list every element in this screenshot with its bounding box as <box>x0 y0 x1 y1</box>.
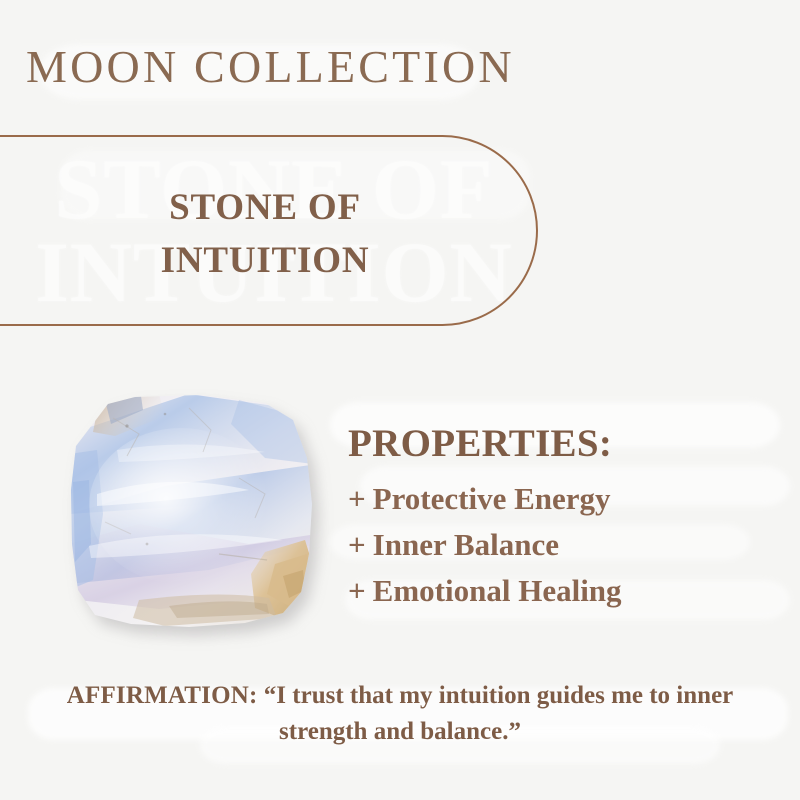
moonstone-image <box>69 394 317 632</box>
plus-icon: + <box>348 575 366 606</box>
affirmation-quote: “I trust that my intuition guides me to … <box>264 682 733 745</box>
banner-title: STONE OF INTUITION <box>60 182 470 287</box>
properties-heading: PROPERTIES: <box>348 424 778 463</box>
page-title: MOON COLLECTION <box>26 43 515 91</box>
property-label: Emotional Healing <box>373 573 622 608</box>
property-item: +Protective Energy <box>348 483 778 514</box>
property-label: Protective Energy <box>373 481 611 516</box>
plus-icon: + <box>348 529 366 560</box>
property-item: +Emotional Healing <box>348 575 778 606</box>
properties-section: PROPERTIES: +Protective Energy +Inner Ba… <box>348 424 778 621</box>
moonstone-info-card: STONE OF INTUITION MOON COLLECTION STONE… <box>0 0 800 800</box>
plus-icon: + <box>348 483 366 514</box>
property-item: +Inner Balance <box>348 529 778 560</box>
affirmation-label: AFFIRMATION: <box>67 682 258 709</box>
stone-image-container <box>55 382 335 642</box>
property-label: Inner Balance <box>373 527 559 562</box>
affirmation-section: AFFIRMATION: “I trust that my intuition … <box>30 678 770 749</box>
